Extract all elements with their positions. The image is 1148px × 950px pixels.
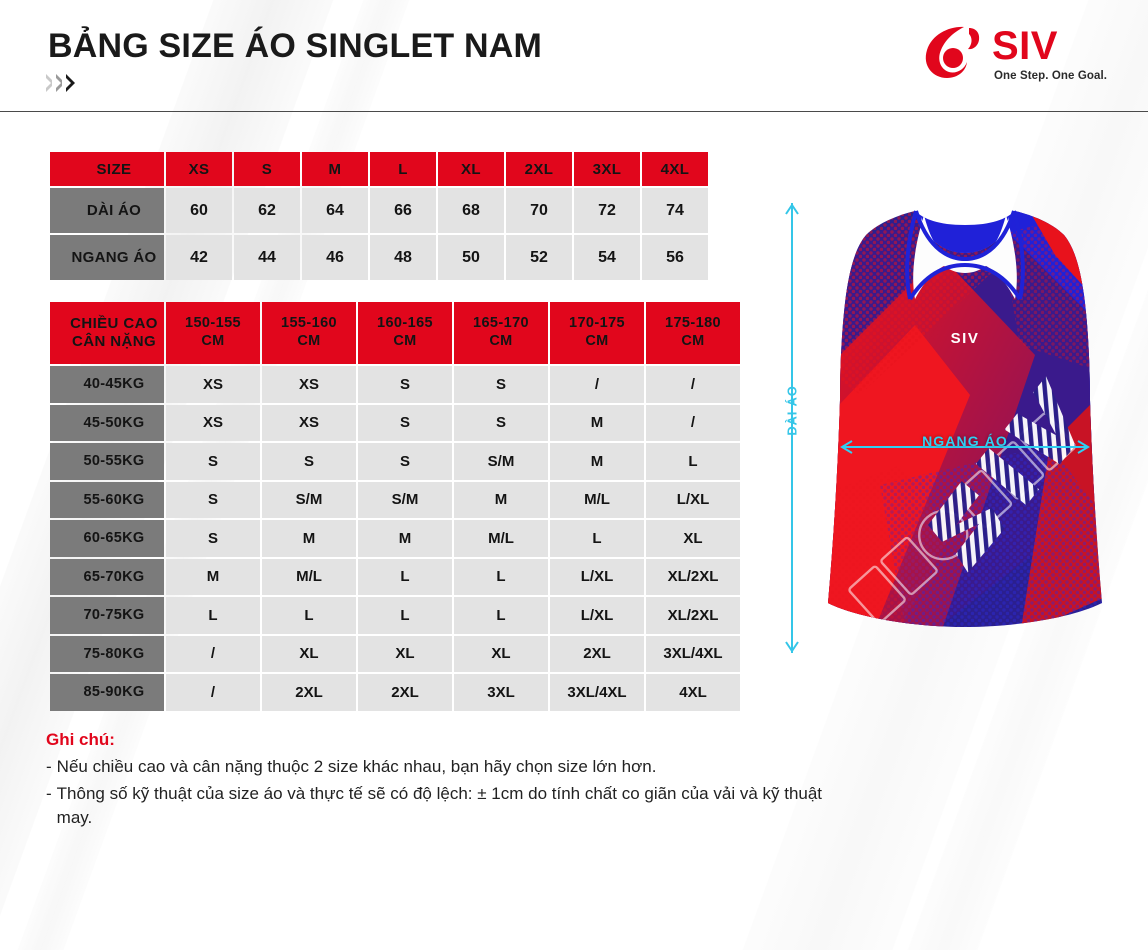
fit-cell-r0-c0: XS xyxy=(166,366,260,403)
cell-dai-ao-xs: 60 xyxy=(166,188,232,233)
note-text: Nếu chiều cao và cân nặng thuộc 2 size k… xyxy=(57,755,836,780)
notes-title: Ghi chú: xyxy=(46,730,836,750)
fit-row-label-55-60kg: 55-60KG xyxy=(50,482,164,519)
fit-row-label-40-45kg: 40-45KG xyxy=(50,366,164,403)
cell-ngang-ao-2xl: 52 xyxy=(506,235,572,280)
cell-ngang-ao-m: 46 xyxy=(302,235,368,280)
fit-cell-r2-c1: S xyxy=(262,443,356,480)
fit-cell-r1-c4: M xyxy=(550,405,644,442)
fit-cell-r7-c3: XL xyxy=(454,636,548,673)
fit-cell-r7-c2: XL xyxy=(358,636,452,673)
size-col-xs: XS xyxy=(166,152,232,186)
fit-col-175-180: 175-180 CM xyxy=(646,302,740,364)
cell-ngang-ao-s: 44 xyxy=(234,235,300,280)
fit-cell-r2-c2: S xyxy=(358,443,452,480)
fit-cell-r0-c5: / xyxy=(646,366,740,403)
note-item: - Nếu chiều cao và cân nặng thuộc 2 size… xyxy=(46,755,836,780)
size-col-4xl: 4XL xyxy=(642,152,708,186)
cell-dai-ao-3xl: 72 xyxy=(574,188,640,233)
garment-chest-logo: SIV xyxy=(951,330,980,347)
height-weight-fit-table: CHIỀU CAO CÂN NẶNG 150-155 CM 155-160 CM… xyxy=(48,300,742,713)
fit-row-label-75-80kg: 75-80KG xyxy=(50,636,164,673)
notes-section: Ghi chú: - Nếu chiều cao và cân nặng thu… xyxy=(46,730,836,831)
fit-cell-r6-c5: XL/2XL xyxy=(646,597,740,634)
fit-col-155-160: 155-160 CM xyxy=(262,302,356,364)
fit-cell-r6-c3: L xyxy=(454,597,548,634)
fit-cell-r2-c3: S/M xyxy=(454,443,548,480)
fit-cell-r1-c1: XS xyxy=(262,405,356,442)
size-measurement-table: SIZE XS S M L XL 2XL 3XL 4XL DÀI ÁO 60 6… xyxy=(48,150,710,282)
fit-cell-r3-c2: S/M xyxy=(358,482,452,519)
fit-cell-r0-c2: S xyxy=(358,366,452,403)
size-col-xl: XL xyxy=(438,152,504,186)
fit-cell-r8-c2: 2XL xyxy=(358,674,452,711)
fit-row-label-70-75kg: 70-75KG xyxy=(50,597,164,634)
fit-cell-r1-c2: S xyxy=(358,405,452,442)
fit-cell-r2-c0: S xyxy=(166,443,260,480)
table-row: 65-70KGMM/LLLL/XLXL/2XL xyxy=(50,559,740,596)
note-item: - Thông số kỹ thuật của size áo và thực … xyxy=(46,782,836,831)
fit-cell-r6-c1: L xyxy=(262,597,356,634)
cell-dai-ao-l: 66 xyxy=(370,188,436,233)
length-measure-arrow: DÀI ÁO xyxy=(778,203,804,653)
fit-cell-r1-c3: S xyxy=(454,405,548,442)
fit-cell-r6-c4: L/XL xyxy=(550,597,644,634)
cell-ngang-ao-xl: 50 xyxy=(438,235,504,280)
fit-corner-label: CHIỀU CAO CÂN NẶNG xyxy=(50,302,164,364)
fit-cell-r5-c4: L/XL xyxy=(550,559,644,596)
fit-cell-r8-c5: 4XL xyxy=(646,674,740,711)
fit-cell-r0-c3: S xyxy=(454,366,548,403)
fit-cell-r5-c3: L xyxy=(454,559,548,596)
fit-col-160-165: 160-165 CM xyxy=(358,302,452,364)
fit-cell-r3-c0: S xyxy=(166,482,260,519)
size-col-s: S xyxy=(234,152,300,186)
fit-row-label-50-55kg: 50-55KG xyxy=(50,443,164,480)
fit-col-170-175: 170-175 CM xyxy=(550,302,644,364)
fit-cell-r4-c4: L xyxy=(550,520,644,557)
width-measure-label: NGANG ÁO xyxy=(850,433,1080,449)
row-label-ngang-ao: NGANG ÁO xyxy=(50,235,164,280)
table-row: 50-55KGSSSS/MML xyxy=(50,443,740,480)
fit-cell-r3-c3: M xyxy=(454,482,548,519)
fit-cell-r4-c3: M/L xyxy=(454,520,548,557)
fit-cell-r1-c5: / xyxy=(646,405,740,442)
size-col-3xl: 3XL xyxy=(574,152,640,186)
header-divider xyxy=(0,111,1148,112)
double-chevron-right-icon xyxy=(46,74,75,92)
fit-cell-r4-c5: XL xyxy=(646,520,740,557)
table-header-row: SIZE XS S M L XL 2XL 3XL 4XL xyxy=(50,152,708,186)
table-row: 45-50KGXSXSSSM/ xyxy=(50,405,740,442)
fit-row-label-65-70kg: 65-70KG xyxy=(50,559,164,596)
table-header-row: CHIỀU CAO CÂN NẶNG 150-155 CM 155-160 CM… xyxy=(50,302,740,364)
fit-cell-r8-c3: 3XL xyxy=(454,674,548,711)
fit-cell-r1-c0: XS xyxy=(166,405,260,442)
row-label-dai-ao: DÀI ÁO xyxy=(50,188,164,233)
cell-ngang-ao-4xl: 56 xyxy=(642,235,708,280)
cell-ngang-ao-3xl: 54 xyxy=(574,235,640,280)
page-header: BẢNG SIZE ÁO SINGLET NAM SIV One Step. O… xyxy=(0,0,1148,112)
length-measure-label: DÀI ÁO xyxy=(785,371,800,451)
cell-ngang-ao-xs: 42 xyxy=(166,235,232,280)
cell-ngang-ao-l: 48 xyxy=(370,235,436,280)
fit-cell-r7-c0: / xyxy=(166,636,260,673)
table-row: DÀI ÁO 60 62 64 66 68 70 72 74 xyxy=(50,188,708,233)
fit-cell-r8-c4: 3XL/4XL xyxy=(550,674,644,711)
fit-cell-r7-c4: 2XL xyxy=(550,636,644,673)
fit-cell-r4-c1: M xyxy=(262,520,356,557)
fit-cell-r6-c0: L xyxy=(166,597,260,634)
size-col-l: L xyxy=(370,152,436,186)
table-row: 75-80KG/XLXLXL2XL3XL/4XL xyxy=(50,636,740,673)
fit-col-150-155: 150-155 CM xyxy=(166,302,260,364)
fit-cell-r3-c1: S/M xyxy=(262,482,356,519)
fit-col-165-170: 165-170 CM xyxy=(454,302,548,364)
fit-cell-r5-c5: XL/2XL xyxy=(646,559,740,596)
fit-cell-r4-c0: S xyxy=(166,520,260,557)
brand-logo: SIV One Step. One Goal. xyxy=(920,22,1120,88)
size-col-m: M xyxy=(302,152,368,186)
fit-cell-r0-c4: / xyxy=(550,366,644,403)
note-dash: - xyxy=(46,755,52,780)
fit-row-label-45-50kg: 45-50KG xyxy=(50,405,164,442)
fit-cell-r5-c0: M xyxy=(166,559,260,596)
fit-cell-r7-c1: XL xyxy=(262,636,356,673)
note-dash: - xyxy=(46,782,52,807)
table-row: 70-75KGLLLLL/XLXL/2XL xyxy=(50,597,740,634)
table-row: NGANG ÁO 42 44 46 48 50 52 54 56 xyxy=(50,235,708,280)
fit-cell-r7-c5: 3XL/4XL xyxy=(646,636,740,673)
fit-cell-r8-c1: 2XL xyxy=(262,674,356,711)
fit-cell-r8-c0: / xyxy=(166,674,260,711)
page-title: BẢNG SIZE ÁO SINGLET NAM xyxy=(48,27,542,66)
table-row: 85-90KG/2XL2XL3XL3XL/4XL4XL xyxy=(50,674,740,711)
fit-cell-r4-c2: M xyxy=(358,520,452,557)
fit-cell-r2-c4: M xyxy=(550,443,644,480)
size-col-2xl: 2XL xyxy=(506,152,572,186)
size-header-label: SIZE xyxy=(50,152,164,186)
table-row: 40-45KGXSXSSS// xyxy=(50,366,740,403)
fit-cell-r2-c5: L xyxy=(646,443,740,480)
fit-row-label-85-90kg: 85-90KG xyxy=(50,674,164,711)
fit-cell-r3-c4: M/L xyxy=(550,482,644,519)
fit-row-label-60-65kg: 60-65KG xyxy=(50,520,164,557)
garment-illustration: SIV DÀI ÁO NGANG ÁO xyxy=(760,185,1130,685)
cell-dai-ao-2xl: 70 xyxy=(506,188,572,233)
cell-dai-ao-xl: 68 xyxy=(438,188,504,233)
fit-cell-r5-c2: L xyxy=(358,559,452,596)
cell-dai-ao-m: 64 xyxy=(302,188,368,233)
logo-wordmark: SIV xyxy=(992,26,1058,66)
fit-cell-r5-c1: M/L xyxy=(262,559,356,596)
cell-dai-ao-s: 62 xyxy=(234,188,300,233)
table-row: 60-65KGSMMM/LLXL xyxy=(50,520,740,557)
note-text: Thông số kỹ thuật của size áo và thực tế… xyxy=(57,782,836,831)
fit-cell-r3-c5: L/XL xyxy=(646,482,740,519)
table-row: 55-60KGSS/MS/MMM/LL/XL xyxy=(50,482,740,519)
logo-tagline: One Step. One Goal. xyxy=(994,70,1107,82)
fit-cell-r6-c2: L xyxy=(358,597,452,634)
siv-swoosh-icon xyxy=(920,24,986,80)
fit-cell-r0-c1: XS xyxy=(262,366,356,403)
cell-dai-ao-4xl: 74 xyxy=(642,188,708,233)
